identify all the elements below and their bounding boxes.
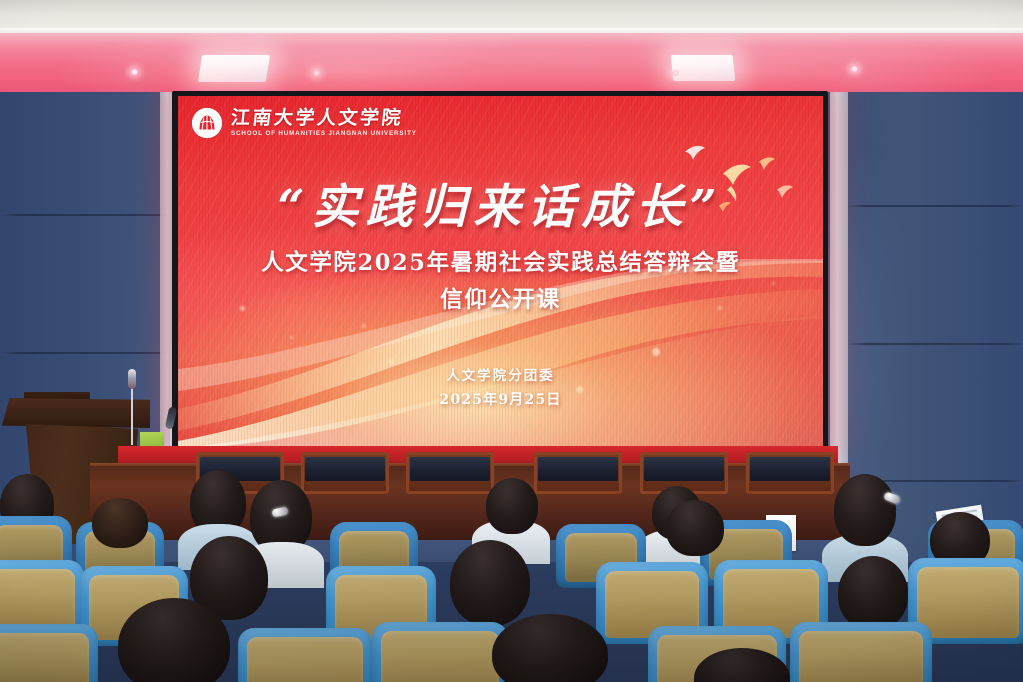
ceiling-panel-light [198, 55, 270, 82]
university-logo: 江南大学人文学院 SCHOOL OF HUMANITIES JIANGNAN U… [192, 108, 417, 138]
attendee-head [838, 556, 908, 630]
ceiling-downlight-icon [131, 69, 138, 75]
logo-name-en: SCHOOL OF HUMANITIES JIANGNAN UNIVERSITY [231, 131, 417, 137]
wall-seam [846, 343, 1023, 345]
led-screen: 江南大学人文学院 SCHOOL OF HUMANITIES JIANGNAN U… [178, 96, 823, 449]
audience-seat[interactable] [0, 624, 98, 682]
flying-doves-icon [665, 138, 805, 243]
stage-chair [746, 452, 834, 494]
wall-seam [846, 205, 1023, 207]
audience-seat[interactable] [372, 622, 508, 682]
attendee-head [834, 474, 896, 546]
university-arch-emblem-icon [192, 108, 222, 138]
attendee-head [92, 498, 148, 548]
podium-desk [2, 398, 150, 428]
logo-name-cn: 江南大学人文学院 [230, 109, 418, 128]
ceiling-downlight-icon [313, 70, 320, 76]
audience-seat[interactable] [790, 622, 932, 682]
ceiling-pink-band [0, 33, 1023, 95]
attendee-head [492, 614, 608, 682]
screen-footer: 人文学院分团委 2025年9月25日 [178, 364, 823, 409]
ceiling-upper [0, 0, 1023, 34]
attendee-head [486, 478, 538, 534]
wall-seam [0, 352, 176, 354]
subtitle-line-2: 信仰公开课 [178, 283, 823, 318]
stage-chair [534, 452, 622, 494]
attendee-head [666, 500, 724, 556]
subtitle-line-1: 人文学院2025年暑期社会实践总结答辩会暨 [178, 246, 823, 281]
auditorium-scene: 江南大学人文学院 SCHOOL OF HUMANITIES JIANGNAN U… [0, 0, 1023, 682]
ceiling-panel-light [671, 55, 736, 81]
ceiling-downlight-icon [672, 70, 679, 76]
wall-seam [0, 214, 176, 216]
microphone-stand [131, 383, 133, 445]
audience-seat[interactable] [238, 628, 372, 682]
organizer-label: 人文学院分团委 [178, 364, 823, 384]
ceiling-downlight-icon [851, 66, 858, 72]
stage-chair [406, 452, 494, 494]
stage-chair [301, 452, 389, 494]
event-date-label: 2025年9月25日 [178, 389, 823, 409]
screen-subtitle: 人文学院2025年暑期社会实践总结答辩会暨 信仰公开课 [178, 246, 823, 318]
microphone-icon [128, 369, 136, 389]
attendee-head [450, 540, 530, 626]
